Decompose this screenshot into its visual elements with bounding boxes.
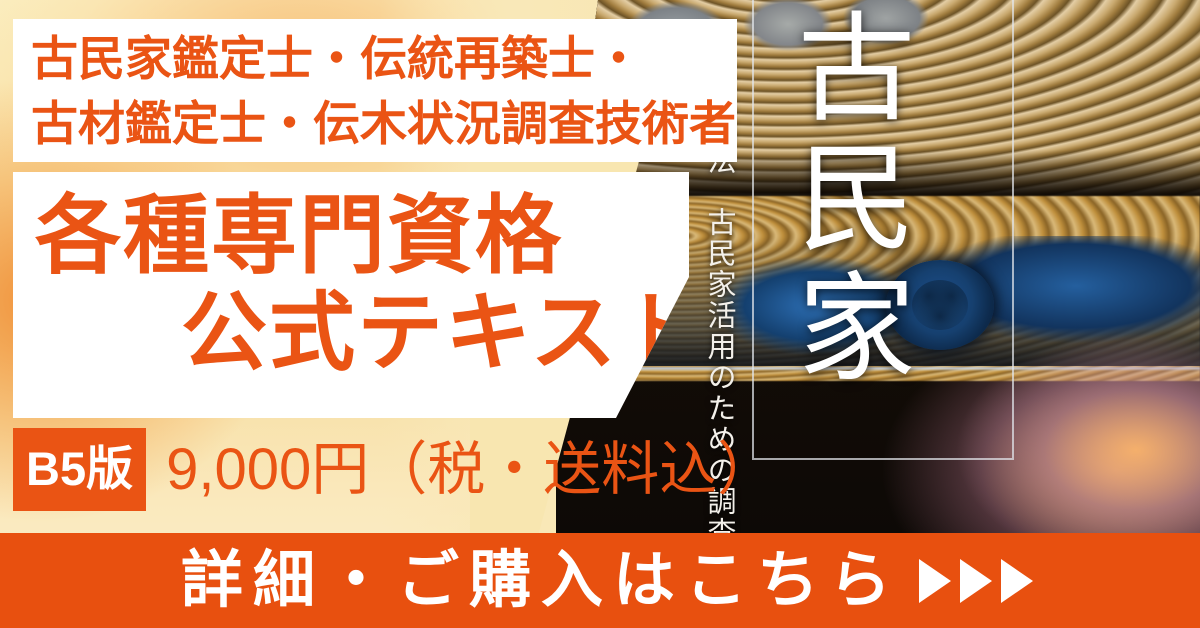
play-arrow-icon xyxy=(919,559,951,603)
price-amount: 9,000円（税・送料込） xyxy=(166,441,775,499)
title-line-2: 公式テキスト xyxy=(181,285,706,381)
size-badge: B5版 xyxy=(13,428,146,511)
cta-arrows xyxy=(919,559,1033,603)
book-cover-title: 古民家 xyxy=(770,6,910,426)
cta-label: 詳細・ご購入はこちら xyxy=(167,550,901,612)
qualifications-text: 古民家鑑定士・伝統再築士・ 古材鑑定士・伝木状況調査技術者 xyxy=(31,26,736,156)
title-line-1: 各種専門資格 xyxy=(35,188,563,284)
play-arrow-icon xyxy=(1001,559,1033,603)
play-arrow-icon xyxy=(960,559,992,603)
title-panel: 各種専門資格 公式テキスト xyxy=(13,172,689,418)
qualifications-line-1: 古民家鑑定士・伝統再築士・ xyxy=(31,26,736,91)
qualifications-panel: 古民家鑑定士・伝統再築士・ 古材鑑定士・伝木状況調査技術者 xyxy=(13,19,737,162)
promo-banner: 古民家 伝統構法 古民家活用のための調査と再生の 古民家鑑定士・伝統再築士・ 古… xyxy=(0,0,1200,628)
qualifications-line-2: 古材鑑定士・伝木状況調査技術者 xyxy=(31,91,736,156)
cta-bar[interactable]: 詳細・ご購入はこちら xyxy=(0,533,1200,628)
price-row: B5版 9,000円（税・送料込） xyxy=(13,428,775,511)
